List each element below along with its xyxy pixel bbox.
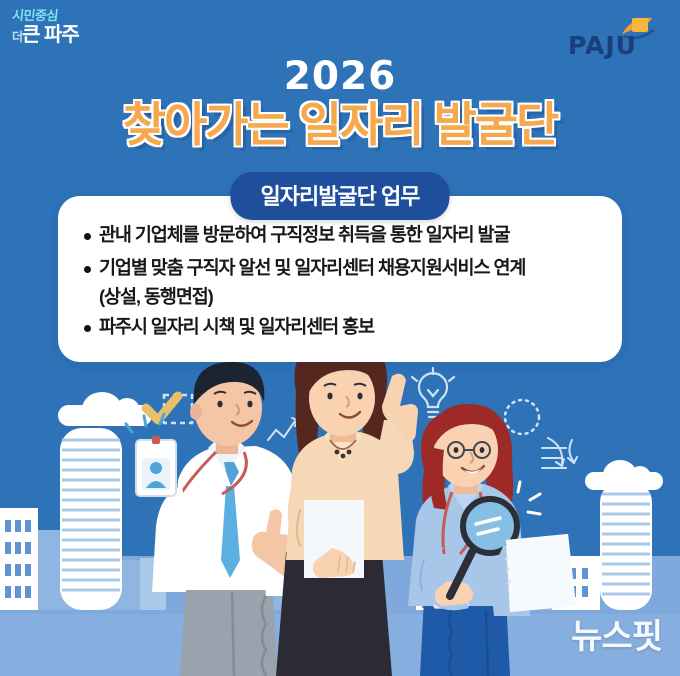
- duty-subtext: (상설, 동행면접): [99, 284, 608, 310]
- title-headline: 찾아가는 일자리 발굴단: [0, 97, 680, 153]
- person-female-researcher: [408, 404, 576, 676]
- bullet-dot-icon: [84, 266, 91, 273]
- duty-text: 파주시 일자리 시책 및 일자리센터 홍보: [99, 314, 374, 340]
- document-lines-icon: [542, 438, 577, 468]
- paju-wordmark-logo: PAJU: [568, 14, 658, 60]
- poster-root: 시민중심 더큰 파주 PAJU 2026 찾아가는 일자리 발굴단 일자리발굴단…: [0, 0, 680, 676]
- list-item: 파주시 일자리 시책 및 일자리센터 홍보: [80, 314, 608, 340]
- slogan-line2-main: 큰 파주: [22, 24, 79, 46]
- list-item: 관내 기업체를 방문하여 구직정보 취득을 통한 일자리 발굴: [80, 222, 608, 248]
- slogan-line2: 더큰 파주: [12, 24, 122, 49]
- duty-text: 관내 기업체를 방문하여 구직정보 취득을 통한 일자리 발굴: [99, 222, 509, 248]
- chart-line-icon: [268, 418, 297, 440]
- title-year: 2026: [0, 56, 680, 98]
- person-female-presenter: [276, 338, 418, 676]
- check-icon: [146, 395, 192, 423]
- list-item: 기업별 맞춤 구직자 알선 및 일자리센터 채용지원서비스 연계: [80, 255, 608, 281]
- dotted-circle-icon: [505, 400, 539, 434]
- watermark: 뉴스핏: [571, 609, 662, 658]
- paju-city-slogan-logo: 시민중심 더큰 파주: [12, 8, 122, 54]
- slogan-line2-small: 더: [12, 30, 22, 44]
- bullet-dot-icon: [84, 325, 91, 332]
- section-badge: 일자리발굴단 업무: [230, 172, 449, 220]
- id-card-icon: [126, 414, 176, 496]
- slogan-line1: 시민중심: [11, 8, 123, 24]
- duty-text: 기업별 맞춤 구직자 알선 및 일자리센터 채용지원서비스 연계: [99, 255, 525, 281]
- bullet-dot-icon: [84, 233, 91, 240]
- duties-panel: 관내 기업체를 방문하여 구직정보 취득을 통한 일자리 발굴 기업별 맞춤 구…: [58, 196, 622, 362]
- duties-list: 관내 기업체를 방문하여 구직정보 취득을 통한 일자리 발굴 기업별 맞춤 구…: [80, 222, 608, 347]
